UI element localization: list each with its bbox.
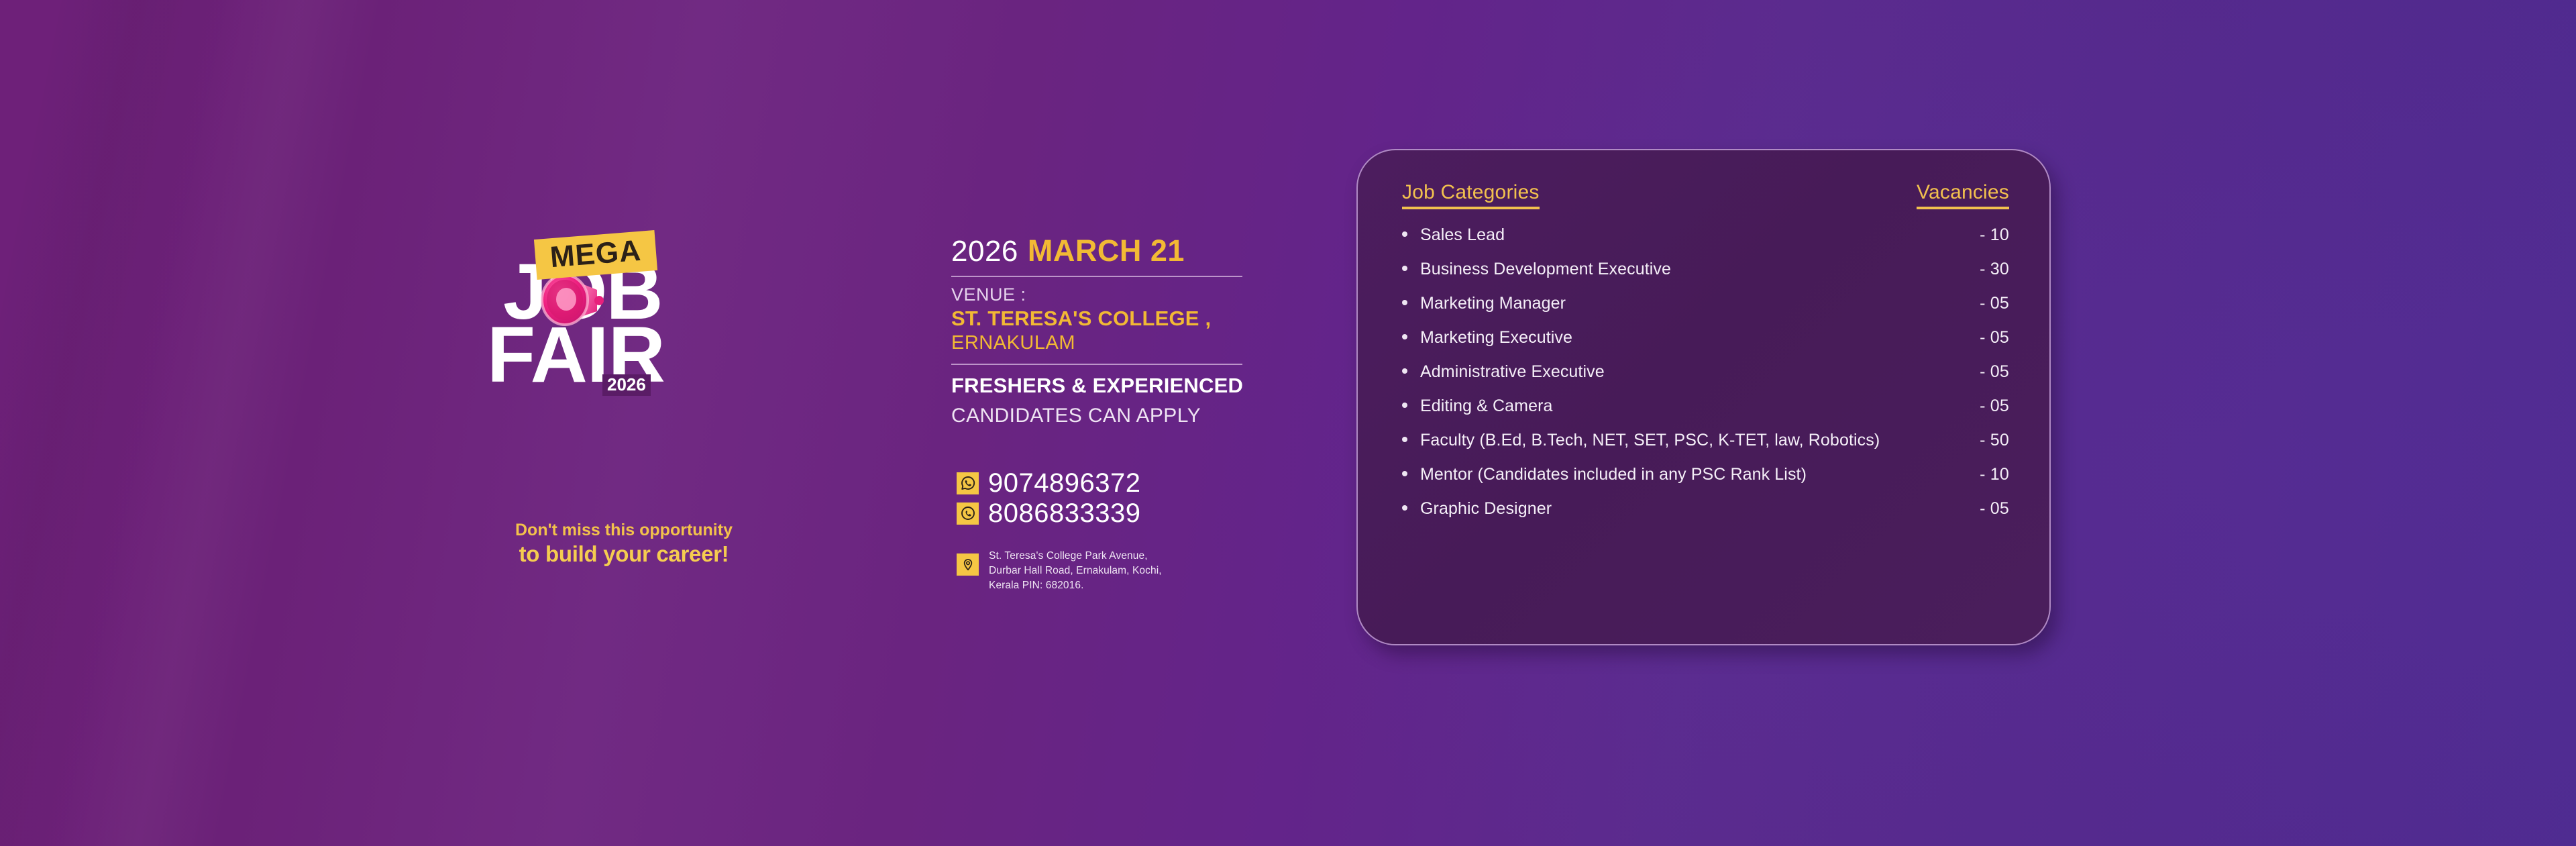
header-vacancies: Vacancies	[1917, 181, 2009, 209]
job-row: Marketing Executive- 05	[1402, 328, 2009, 348]
divider-top	[951, 276, 1242, 277]
whatsapp-icon	[957, 472, 979, 494]
header-job-categories-label: Job Categories	[1402, 181, 1540, 203]
contact-row-whatsapp[interactable]: 9074896372	[957, 470, 1140, 496]
event-details: 2026 MARCH 21 VENUE : ST. TERESA'S COLLE…	[951, 233, 1340, 430]
logo-year-label: 2026	[607, 374, 646, 394]
eligibility-line-1: FRESHERS & EXPERIENCED	[951, 372, 1340, 399]
job-row: Administrative Executive- 05	[1402, 362, 2009, 382]
bullet-icon	[1402, 471, 1407, 476]
contact-numbers: 9074896372 8086833339	[957, 470, 1140, 530]
event-logo: MEGA JOB FAIR 2026	[470, 221, 778, 450]
whatsapp-number: 9074896372	[988, 470, 1140, 496]
phone-number: 8086833339	[988, 500, 1140, 527]
eligibility-line-2: CANDIDATES CAN APPLY	[951, 403, 1340, 430]
job-vacancies: - 05	[1947, 294, 2009, 313]
job-vacancies: - 05	[1947, 499, 2009, 519]
event-date-year: 2026	[951, 235, 1018, 268]
job-name: Administrative Executive	[1420, 363, 1947, 382]
job-vacancies: - 10	[1947, 225, 2009, 245]
header-vacancies-underline	[1917, 207, 2009, 209]
job-categories-card: Job Categories Vacancies Sales Lead- 10B…	[1356, 149, 2051, 645]
address-line-2: Durbar Hall Road, Ernakulam, Kochi,	[989, 564, 1162, 578]
job-vacancies: - 05	[1947, 328, 2009, 348]
header-vacancies-label: Vacancies	[1917, 181, 2009, 203]
job-vacancies: - 10	[1947, 465, 2009, 484]
address-line-1: St. Teresa's College Park Avenue,	[989, 549, 1162, 564]
bullet-icon	[1402, 300, 1407, 305]
job-row: Mentor (Candidates included in any PSC R…	[1402, 465, 2009, 484]
job-name: Marketing Manager	[1420, 295, 1947, 313]
event-date-month-day: MARCH 21	[1028, 233, 1185, 268]
job-name: Business Development Executive	[1420, 260, 1947, 279]
job-row: Marketing Manager- 05	[1402, 294, 2009, 313]
bullet-icon	[1402, 403, 1407, 408]
bullet-icon	[1402, 368, 1407, 374]
job-vacancies: - 05	[1947, 362, 2009, 382]
job-name: Mentor (Candidates included in any PSC R…	[1420, 466, 1947, 484]
job-list: Sales Lead- 10Business Development Execu…	[1402, 225, 2009, 519]
job-row: Editing & Camera- 05	[1402, 396, 2009, 416]
venue-city: ERNAKULAM	[951, 331, 1340, 354]
job-vacancies: - 50	[1947, 431, 2009, 450]
venue-name: ST. TERESA'S COLLEGE ,	[951, 307, 1340, 331]
venue-label: VENUE :	[951, 284, 1340, 305]
header-job-categories-underline	[1402, 207, 1540, 209]
address-line-3: Kerala PIN: 682016.	[989, 578, 1162, 593]
job-name: Editing & Camera	[1420, 397, 1947, 416]
job-name: Sales Lead	[1420, 226, 1947, 245]
job-row: Business Development Executive- 30	[1402, 260, 2009, 279]
job-row: Sales Lead- 10	[1402, 225, 2009, 245]
header-job-categories: Job Categories	[1402, 181, 1540, 209]
venue-address: St. Teresa's College Park Avenue, Durbar…	[957, 549, 1162, 593]
bullet-icon	[1402, 266, 1407, 271]
job-name: Faculty (B.Ed, B.Tech, NET, SET, PSC, K-…	[1420, 431, 1947, 450]
bullet-icon	[1402, 505, 1407, 511]
tagline-line-2: to build your career!	[470, 541, 778, 568]
location-pin-icon	[957, 553, 979, 576]
job-row: Graphic Designer- 05	[1402, 499, 2009, 519]
job-card-header: Job Categories Vacancies	[1402, 181, 2009, 209]
bullet-icon	[1402, 334, 1407, 339]
job-vacancies: - 30	[1947, 260, 2009, 279]
contact-row-phone[interactable]: 8086833339	[957, 500, 1140, 527]
bullet-icon	[1402, 437, 1407, 442]
tagline: Don't miss this opportunity to build you…	[470, 520, 778, 568]
divider-bottom	[951, 364, 1242, 365]
event-date: 2026 MARCH 21	[951, 233, 1340, 268]
job-row: Faculty (B.Ed, B.Tech, NET, SET, PSC, K-…	[1402, 431, 2009, 450]
tagline-line-1: Don't miss this opportunity	[470, 520, 778, 541]
job-name: Marketing Executive	[1420, 329, 1947, 348]
logo-year-badge: 2026	[602, 374, 651, 396]
job-vacancies: - 05	[1947, 396, 2009, 416]
job-name: Graphic Designer	[1420, 500, 1947, 519]
bullet-icon	[1402, 231, 1407, 237]
phone-icon	[957, 503, 979, 525]
mega-banner-label: MEGA	[549, 236, 642, 273]
